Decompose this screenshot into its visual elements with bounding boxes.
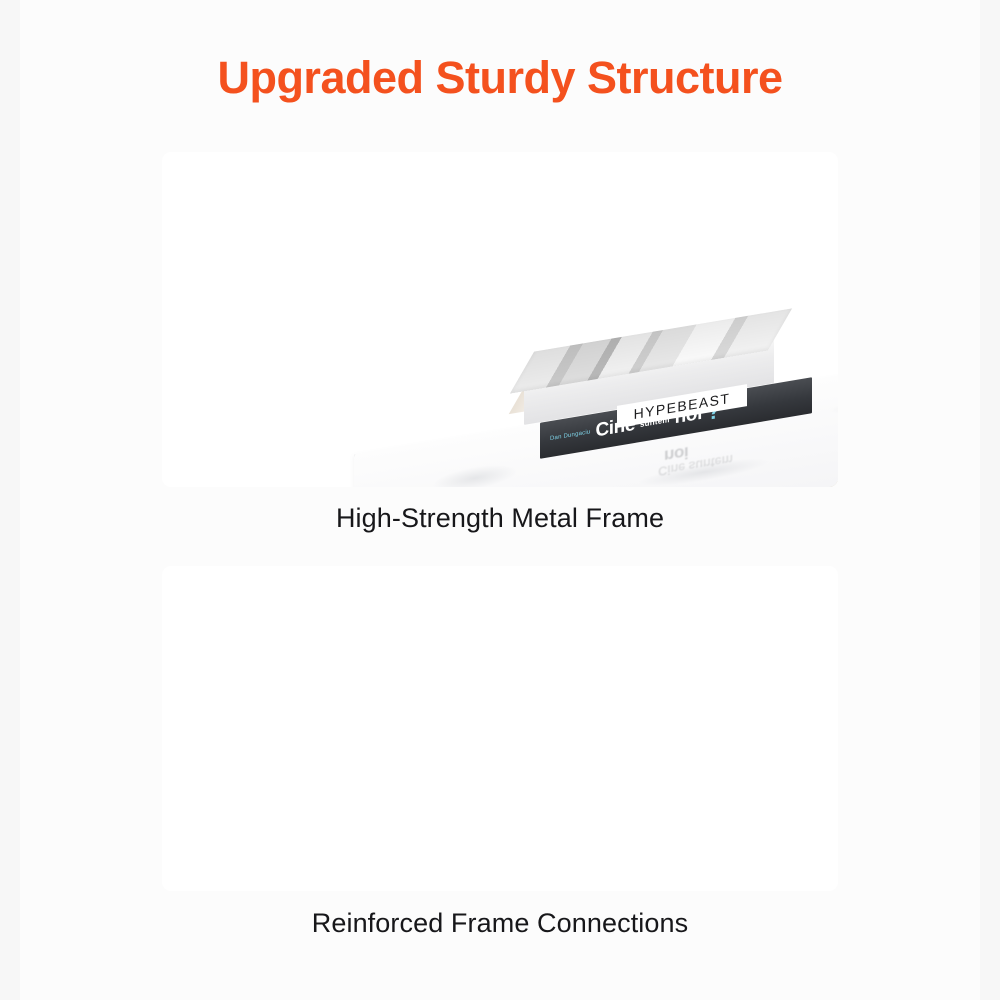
product-infographic-page: Upgraded Sturdy Structure noi Cine sunte… <box>0 0 1000 1000</box>
scene-desk-with-books: noi Cine suntem Dan Dungaciu Cine suntem… <box>162 152 838 487</box>
scene-frame-joint-closeup <box>162 566 838 891</box>
page-title: Upgraded Sturdy Structure <box>0 52 1000 104</box>
book-author-label: Dan Dungaciu <box>550 429 590 442</box>
image-card-metal-frame: noi Cine suntem Dan Dungaciu Cine suntem… <box>162 152 838 487</box>
caption-metal-frame: High-Strength Metal Frame <box>0 503 1000 534</box>
image-card-frame-connections <box>162 566 838 891</box>
caption-frame-connections: Reinforced Frame Connections <box>0 908 1000 939</box>
